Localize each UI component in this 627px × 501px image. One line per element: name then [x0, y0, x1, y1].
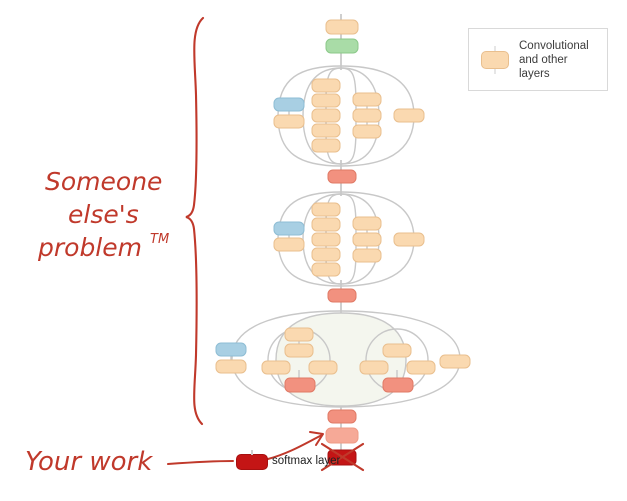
- node-b1-col2-1: [353, 93, 381, 106]
- node-pre-output-layer: [326, 428, 358, 443]
- softmax-swatch-icon: [236, 454, 268, 470]
- node-b2-col1-5: [312, 263, 340, 276]
- legend-label-line2: and other: [519, 53, 589, 67]
- node-separator-3: [328, 410, 356, 423]
- curly-brace-path: [186, 18, 203, 424]
- node-separator-2: [328, 289, 356, 302]
- brace-label-line1: Someone: [45, 167, 162, 196]
- diagram-canvas: Someone else's problem TM Your work Conv…: [0, 0, 627, 501]
- node-b2-right: [394, 233, 424, 246]
- node-b1-right: [394, 109, 424, 122]
- module2-nodes: [274, 203, 424, 276]
- node-b2-col1-2: [312, 218, 340, 231]
- node-b1-col2-3: [353, 125, 381, 138]
- legend-panel: Convolutional and other layers: [468, 28, 608, 91]
- node-b3-far-right: [440, 355, 470, 368]
- node-b1-orange-left: [274, 115, 304, 128]
- node-b1-col1-4: [312, 124, 340, 137]
- node-separator-1: [328, 170, 356, 183]
- legend-label: Convolutional and other layers: [519, 39, 589, 81]
- legend-label-line1: Convolutional: [519, 39, 589, 53]
- node-b1-blue: [274, 98, 304, 111]
- node-normalization-layer: [326, 39, 358, 53]
- node-b3-l-right: [309, 361, 337, 374]
- node-b2-col2-3: [353, 249, 381, 262]
- node-b3-l-bottom: [285, 378, 315, 392]
- node-b1-col1-3: [312, 109, 340, 122]
- softmax-label: softmax layer: [272, 455, 340, 467]
- node-b1-col1-2: [312, 94, 340, 107]
- node-b3-r-top: [383, 344, 411, 357]
- node-b2-blue: [274, 222, 304, 235]
- brace-annotation-text: Someone else's problem TM: [37, 167, 169, 262]
- curly-brace-icon: [186, 18, 203, 424]
- node-b1-col1-1: [312, 79, 340, 92]
- node-b3-l-top-b: [285, 344, 313, 357]
- brace-label-line3: problem: [37, 233, 142, 262]
- node-b2-col2-2: [353, 233, 381, 246]
- node-b3-r-right: [407, 361, 435, 374]
- brace-label-line2: else's: [68, 200, 139, 229]
- node-b3-r-left: [360, 361, 388, 374]
- module1-nodes: [274, 79, 424, 152]
- rounded-rect-layer-icon: [481, 51, 509, 69]
- node-b3-l-top-a: [285, 328, 313, 341]
- node-b3-blue: [216, 343, 246, 356]
- legend-label-line3: layers: [519, 67, 589, 81]
- node-b1-col1-5: [312, 139, 340, 152]
- leader-line: [168, 461, 233, 464]
- your-work-label: Your work: [25, 447, 153, 477]
- node-b2-col2-1: [353, 217, 381, 230]
- node-b1-col2-2: [353, 109, 381, 122]
- node-b2-col1-1: [312, 203, 340, 216]
- node-input-layer: [326, 20, 358, 34]
- node-b2-col1-4: [312, 248, 340, 261]
- node-b2-orange-left: [274, 238, 304, 251]
- brace-label-superscript: TM: [150, 232, 169, 247]
- node-b3-r-bottom: [383, 378, 413, 392]
- leader-line-path: [168, 461, 233, 464]
- node-b3-orange-left: [216, 360, 246, 373]
- node-b2-col1-3: [312, 233, 340, 246]
- node-b3-l-left: [262, 361, 290, 374]
